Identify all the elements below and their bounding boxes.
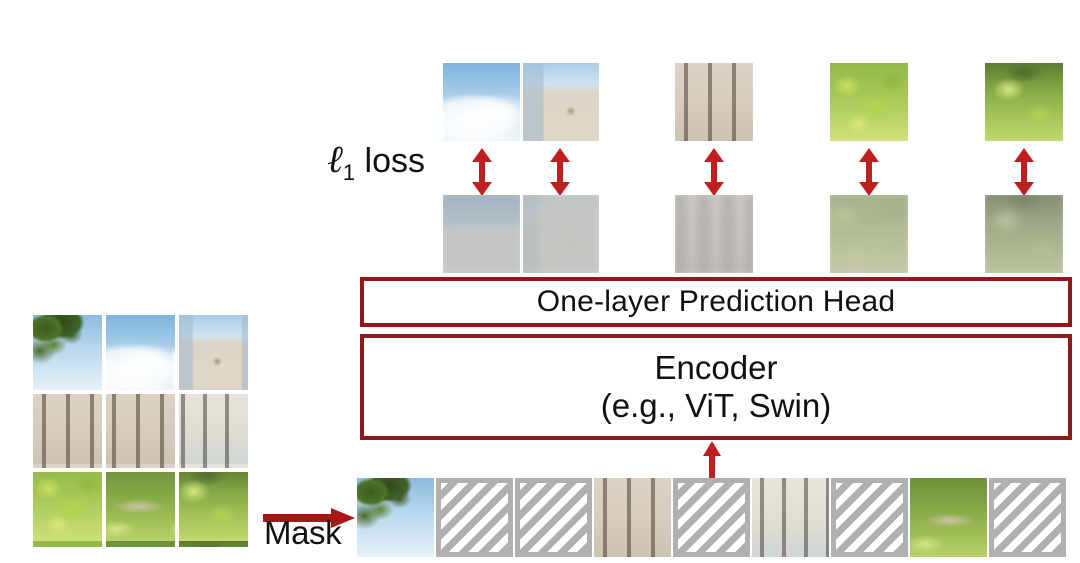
encoder-input-arrow — [702, 441, 722, 479]
figure-canvas: ℓ1 loss One-layer Prediction Head Encode… — [0, 0, 1080, 563]
target-patch-4 — [830, 63, 908, 141]
encoder-label-line1: Encoder — [655, 349, 778, 387]
mask-label: Mask — [264, 516, 341, 549]
loss-arrow-5 — [1013, 148, 1035, 196]
source-patch-r2c2 — [106, 394, 175, 469]
ell-symbol: ℓ — [327, 137, 343, 181]
token-1-visible — [357, 478, 434, 557]
target-patch-2 — [521, 63, 599, 141]
loss-arrow-3 — [703, 148, 725, 196]
prediction-head-box[interactable]: One-layer Prediction Head — [360, 277, 1072, 327]
token-3-masked — [515, 478, 592, 557]
predicted-patch-3 — [675, 195, 753, 273]
loss-arrow-4 — [858, 148, 880, 196]
loss-arrow-1 — [471, 148, 493, 196]
predicted-patch-5 — [985, 195, 1063, 273]
patch-seam — [520, 63, 523, 141]
source-patch-r1c1 — [33, 315, 102, 390]
source-patch-r1c3 — [179, 315, 248, 390]
loss-arrow-2 — [549, 148, 571, 196]
source-patch-r3c1 — [33, 472, 102, 547]
predicted-patch-2 — [521, 195, 599, 273]
encoder-box[interactable]: Encoder (e.g., ViT, Swin) — [360, 334, 1072, 440]
source-patch-r2c3 — [179, 394, 248, 469]
source-patch-r3c2 — [106, 472, 175, 547]
target-patch-3 — [675, 63, 753, 141]
loss-word: loss — [365, 142, 425, 180]
source-patch-r1c2 — [106, 315, 175, 390]
source-image-grid — [33, 315, 248, 547]
encoder-label-line2: (e.g., ViT, Swin) — [601, 387, 831, 425]
patch-seam — [520, 195, 523, 273]
source-patch-r3c3 — [179, 472, 248, 547]
token-2-masked — [436, 478, 513, 557]
token-sequence — [357, 478, 1071, 557]
source-patch-r2c1 — [33, 394, 102, 469]
predicted-patch-4 — [830, 195, 908, 273]
token-6-visible — [752, 478, 829, 557]
predicted-patch-1 — [443, 195, 521, 273]
target-patch-1 — [443, 63, 521, 141]
l1-loss-label: ℓ1 loss — [327, 137, 425, 186]
token-8-visible — [910, 478, 987, 557]
token-9-masked — [989, 478, 1066, 557]
target-patch-5 — [985, 63, 1063, 141]
token-5-masked — [673, 478, 750, 557]
prediction-head-label: One-layer Prediction Head — [537, 285, 896, 319]
token-4-visible — [594, 478, 671, 557]
ell-subscript: 1 — [343, 160, 355, 185]
token-7-masked — [831, 478, 908, 557]
